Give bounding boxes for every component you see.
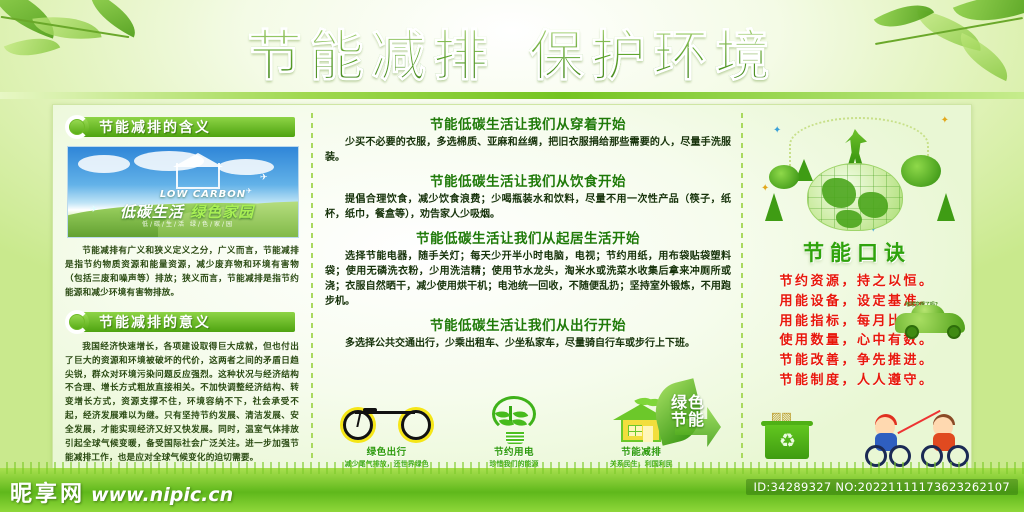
section-daily-life-body: 选择节能电器，随手关灯；每天少开半小时电脑，电视；节约用纸，用布袋贴袋塑料袋；使… xyxy=(325,249,731,309)
site-watermark: 昵享网 www.nipic.cn xyxy=(10,476,233,508)
title-underline-band xyxy=(0,92,1024,99)
middle-column: 节能低碳生活让我们从穿着开始 少买不必要的衣服，多选棉质、亚麻和丝绸，把旧衣服捐… xyxy=(313,105,741,471)
section-diet-body: 提倡合理饮食，减少饮食浪费；少喝瓶装水和饮料，尽量不用一次性产品（筷子，纸杯，纸… xyxy=(325,192,731,222)
watermark-url: www.nipic.cn xyxy=(91,484,233,506)
bird-icon: ✈ xyxy=(260,173,268,183)
recycle-bin-icon: ▨▧ ♻ xyxy=(761,409,813,459)
mnemonic-line: 节能制度，人人遵守。 xyxy=(751,371,963,391)
globe-shape xyxy=(807,163,903,231)
heading-ribbon-meaning: 节能减排的含义 xyxy=(65,115,301,139)
section-clothing-heading: 节能低碳生活让我们从穿着开始 xyxy=(325,113,731,133)
ribbon-ring-icon xyxy=(65,115,89,139)
icon-label-green-travel: 绿色出行 xyxy=(333,444,441,458)
two-cyclists-illustration xyxy=(865,405,969,467)
tree-icon xyxy=(765,193,783,221)
left-column: 节能减排的含义 ✈ ✈ ✈ LOW CARBON 低碳生活 绿色家园 低/碳/生… xyxy=(53,105,311,471)
photo-english-text: LOW CARBON xyxy=(148,189,258,200)
mnemonic-line: 节约资源，持之以恒。 xyxy=(751,272,963,292)
heading-ribbon-significance: 节能减排的意义 xyxy=(65,310,301,334)
right-column: ✦ ✦ ✦ ✦ 节能口诀 节约资源，持之以恒。 用能设备，设定基准。 用能指 xyxy=(743,105,971,471)
grass-car-icon: 地球变暖了吗? xyxy=(895,301,969,341)
section-clothing: 节能低碳生活让我们从穿着开始 少买不必要的衣服，多选棉质、亚麻和丝绸，把旧衣服捐… xyxy=(325,113,731,165)
butterfly-icon: ✦ xyxy=(773,125,781,136)
section-daily-life: 节能低碳生活让我们从起居生活开始 选择节能电器，随手关灯；每天少开半小时电脑，电… xyxy=(325,227,731,309)
section-travel-body: 多选择公共交通出行，少乘出租车、少坐私家车，尽量骑自行车或步行上下班。 xyxy=(325,336,731,351)
mnemonic-line: 节能改善，争先推进。 xyxy=(751,351,963,371)
image-id-text: ID:34289327 NO:20221111173623262107 xyxy=(746,479,1018,495)
title-right: 保护环境 xyxy=(529,11,777,91)
house-body-shape xyxy=(176,163,220,189)
tree-icon xyxy=(937,193,955,221)
left-section2-body: 我国经济快速增长，各项建设取得巨大成就，但也付出了巨大的资源和环境被破坏的代价，… xyxy=(65,341,299,466)
bush-icon xyxy=(769,165,799,189)
section-travel: 节能低碳生活让我们从出行开始 多选择公共交通出行，少乘出租车、少坐私家车，尽量骑… xyxy=(325,314,731,351)
poster-root: 节能减排 保护环境 节能减排的含义 ✈ ✈ ✈ LOW xyxy=(0,0,1024,512)
ribbon-ring-icon xyxy=(65,310,89,334)
poster-title: 节能减排 保护环境 xyxy=(0,14,1024,88)
bird-icon: ✈ xyxy=(90,205,98,215)
section-daily-life-heading: 节能低碳生活让我们从起居生活开始 xyxy=(325,227,731,247)
green-leaf-logo: 绿色 节能 xyxy=(653,383,737,457)
section-clothing-body: 少买不必要的衣服，多选棉质、亚麻和丝绸，把旧衣服捐给那些需要的人，尽量手洗服装。 xyxy=(325,135,731,165)
photo-subtitle: 低/碳/生/活 绿/色/家/园 xyxy=(128,219,248,228)
logo-line2: 节能 xyxy=(671,412,735,429)
section-travel-heading: 节能低碳生活让我们从出行开始 xyxy=(325,314,731,334)
green-globe-illustration: ✦ ✦ ✦ ✦ xyxy=(751,111,963,235)
left-section2-heading: 节能减排的意义 xyxy=(99,312,211,332)
bicycle-icon xyxy=(333,396,441,444)
mnemonic-heading: 节能口诀 xyxy=(751,237,963,267)
section-diet: 节能低碳生活让我们从饮食开始 提倡合理饮食，减少饮食浪费；少喝瓶装水和饮料，尽量… xyxy=(325,170,731,222)
left-section1-body: 节能减排有广义和狭义定义之分，广义而言，节能减排是指节约物质资源和能量资源，减少… xyxy=(65,245,299,301)
left-section1-heading: 节能减排的含义 xyxy=(99,117,211,137)
light-bulb-leaf-icon xyxy=(460,396,568,444)
section-diet-heading: 节能低碳生活让我们从饮食开始 xyxy=(325,170,731,190)
content-board: 节能减排的含义 ✈ ✈ ✈ LOW CARBON 低碳生活 绿色家园 低/碳/生… xyxy=(52,104,972,472)
low-carbon-photo: ✈ ✈ ✈ LOW CARBON 低碳生活 绿色家园 低/碳/生/活 绿/色/家… xyxy=(67,146,299,238)
watermark-cn: 昵享网 xyxy=(10,476,85,508)
eco-icon-row: 绿色出行 减少尾气排放，还世界绿色 xyxy=(323,383,705,469)
icon-cell-green-travel: 绿色出行 减少尾气排放，还世界绿色 xyxy=(333,396,441,469)
icon-cell-save-electricity: 节约用电 珍惜我们的能源 xyxy=(460,396,568,469)
title-left: 节能减排 xyxy=(247,11,495,91)
butterfly-icon: ✦ xyxy=(941,115,949,126)
bush-icon xyxy=(901,155,941,187)
cyclist-left xyxy=(865,409,913,467)
icon-label-save-electricity: 节约用电 xyxy=(460,444,568,458)
recycle-symbol-icon: ♻ xyxy=(779,432,796,451)
